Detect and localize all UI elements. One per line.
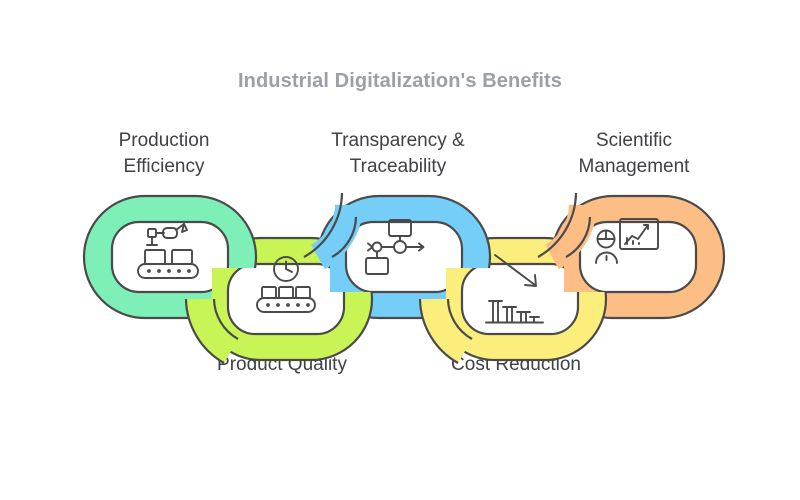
infographic-canvas: Industrial Digitalization's Benefits Pro… [0,0,800,500]
chain-diagram [0,0,800,500]
chain-link-production-efficiency [84,196,256,318]
link-inner-window [112,222,228,292]
